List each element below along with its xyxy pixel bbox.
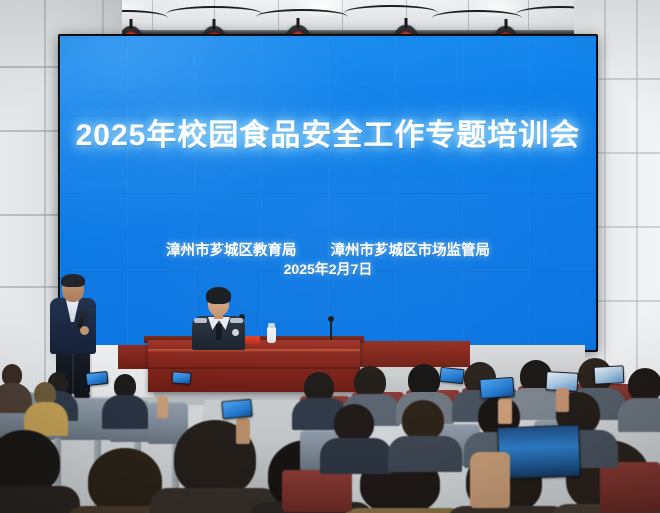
microphone-stand <box>330 320 332 340</box>
phone <box>594 365 625 385</box>
water-bottle <box>267 327 276 343</box>
phone <box>85 371 108 386</box>
phone <box>439 367 464 384</box>
cable <box>256 9 348 25</box>
cable <box>344 5 438 21</box>
slide-date: 2025年2月7日 <box>60 259 596 279</box>
seated-presenter <box>196 288 252 344</box>
microphone-head <box>328 316 334 322</box>
raised-hand <box>556 388 569 412</box>
seat <box>282 470 352 512</box>
slide-organizations: 漳州市芗城区教育局 漳州市芗城区市场监管局 <box>60 239 596 260</box>
cable <box>432 10 522 26</box>
led-screen: 2025年校园食品安全工作专题培训会 漳州市芗城区教育局 漳州市芗城区市场监管局… <box>60 36 596 350</box>
slide-title: 2025年校园食品安全工作专题培训会 <box>60 110 596 154</box>
organizer-market-regulation: 漳州市芗城区市场监管局 <box>331 243 491 259</box>
raised-hand <box>157 396 168 418</box>
raised-hand <box>498 398 512 424</box>
phone <box>479 377 514 399</box>
phone <box>221 399 252 420</box>
conference-photo: 2025年校园食品安全工作专题培训会 漳州市芗城区教育局 漳州市芗城区市场监管局… <box>0 0 660 513</box>
phone <box>172 371 192 385</box>
seat <box>600 462 660 512</box>
organizer-education-bureau: 漳州市芗城区教育局 <box>166 243 297 259</box>
podium-extension <box>360 341 470 367</box>
podium-side-block <box>118 345 150 369</box>
raised-hand <box>470 452 510 508</box>
raised-hand <box>236 418 250 444</box>
